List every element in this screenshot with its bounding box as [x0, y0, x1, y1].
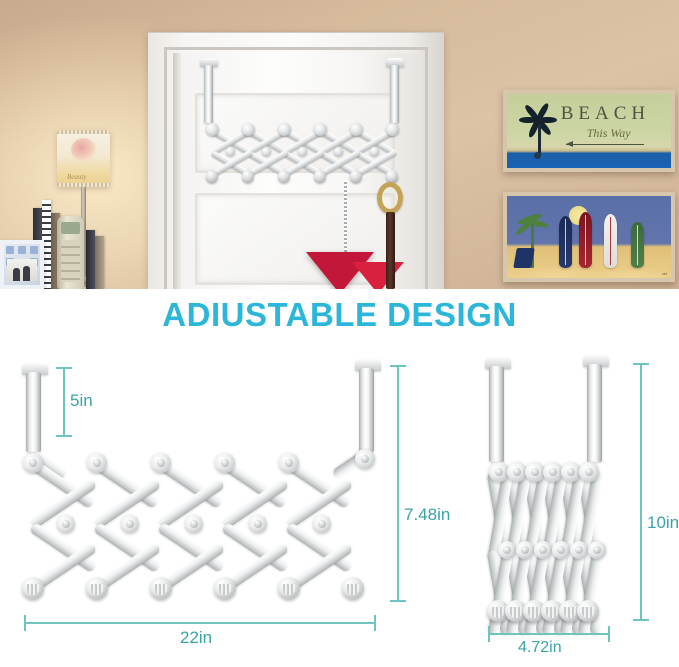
- hook[interactable]: [342, 577, 364, 599]
- rack-joint: [298, 147, 307, 156]
- keyring-icon: [377, 182, 403, 214]
- lattice-joint: [23, 453, 43, 473]
- rack-joint: [314, 123, 327, 136]
- dimension-diagrams: 5in 7.48in 22in: [0, 345, 679, 667]
- hanger-arm-right: [359, 368, 374, 452]
- hanger-arm-right: [390, 65, 399, 123]
- page-title: ADIUSTABLE DESIGN: [0, 296, 679, 334]
- hanger-arm-right: [587, 364, 602, 462]
- rack-joint: [262, 147, 271, 156]
- lattice-joint: [570, 541, 588, 559]
- picture-frame: [0, 240, 44, 289]
- dimension-line-overall-width: [488, 633, 610, 635]
- beach-sign-art: BEACH This Way: [503, 90, 675, 172]
- surfboard-icon: [579, 212, 592, 268]
- hook[interactable]: [278, 577, 300, 599]
- dimension-line-overall-width: [24, 622, 376, 624]
- dimension-label-overall-width: 4.72in: [518, 639, 562, 657]
- beach-sign-subtext: This Way: [587, 126, 631, 141]
- dimension-line-overall-height: [397, 365, 399, 602]
- lattice-joint: [525, 462, 545, 482]
- lattice-joint: [121, 515, 139, 533]
- rack-joint: [226, 147, 235, 156]
- rack-joint: [350, 123, 363, 136]
- rack-hook[interactable]: [386, 170, 398, 182]
- lattice-joint: [561, 462, 581, 482]
- hook-rack-installed: [188, 60, 416, 200]
- rack-joint: [278, 123, 291, 136]
- hook[interactable]: [86, 577, 108, 599]
- lattice-joint: [498, 541, 516, 559]
- lattice-joint: [579, 462, 599, 482]
- surfboard-icon: [604, 214, 617, 268]
- hanger-arm-left: [489, 366, 504, 462]
- dimension-label-arm-height: 5in: [70, 391, 93, 411]
- rack-joint: [386, 123, 399, 136]
- hook[interactable]: [214, 577, 236, 599]
- lattice-joint: [87, 453, 107, 473]
- rack-joint: [334, 147, 343, 156]
- lattice-joint: [249, 515, 267, 533]
- leather-strap: [386, 212, 395, 289]
- dimension-line-overall-height: [640, 363, 642, 621]
- hanger-arm-left: [26, 372, 41, 452]
- lattice-joint: [57, 515, 75, 533]
- hook[interactable]: [577, 600, 599, 622]
- book: [86, 230, 95, 289]
- lattice-joint: [313, 515, 331, 533]
- surfboard-painting-art: art: [503, 192, 675, 282]
- bag-chain-strap: [344, 180, 347, 252]
- dimension-label-overall-width: 22in: [180, 628, 212, 648]
- hanger-arm-left: [204, 65, 213, 123]
- beach-sign-heading: BEACH: [561, 103, 650, 125]
- surfboard-icon: [559, 216, 572, 268]
- hook[interactable]: [150, 577, 172, 599]
- rack-joint: [206, 123, 219, 136]
- lattice-joint: [151, 453, 171, 473]
- rack-hook[interactable]: [350, 170, 362, 182]
- lattice-joint: [355, 449, 375, 469]
- rack-hook[interactable]: [314, 170, 326, 182]
- lattice-joint: [507, 462, 527, 482]
- dimension-line-arm-height: [63, 367, 65, 437]
- lattice-joint: [516, 541, 534, 559]
- left-arrow-icon: [566, 144, 644, 145]
- surfboard-icon: [631, 222, 644, 268]
- lattice-joint: [489, 462, 509, 482]
- lifestyle-photo: Beauty: [0, 0, 679, 289]
- lattice-joint: [215, 453, 235, 473]
- hook[interactable]: [22, 577, 44, 599]
- rack-hook[interactable]: [206, 170, 218, 182]
- rack-joint: [370, 147, 379, 156]
- lamp-shade-icon: Beauty: [57, 130, 110, 187]
- lattice-joint: [552, 541, 570, 559]
- cordless-phone: [57, 216, 84, 289]
- rack-hook[interactable]: [278, 170, 290, 182]
- lattice-joint: [588, 541, 606, 559]
- rack-joint: [242, 123, 255, 136]
- lattice-joint: [543, 462, 563, 482]
- dimension-label-overall-height: 7.48in: [404, 505, 450, 525]
- red-bag-flap: [352, 262, 404, 289]
- book: [95, 236, 104, 289]
- rack-hook[interactable]: [242, 170, 254, 182]
- product-infographic: Beauty: [0, 0, 679, 667]
- lattice-joint: [279, 453, 299, 473]
- lattice-joint: [185, 515, 203, 533]
- lattice-joint: [534, 541, 552, 559]
- dimension-label-overall-height: 10in: [647, 513, 679, 533]
